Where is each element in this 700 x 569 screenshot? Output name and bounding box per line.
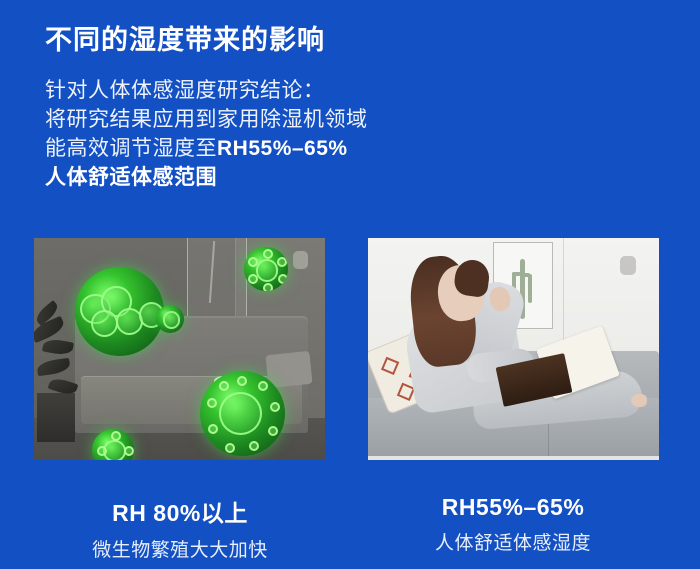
pillow-motif — [381, 356, 399, 374]
wall-thermostat-icon — [293, 251, 308, 269]
microbe-spike — [207, 398, 217, 408]
microbe-sphere — [75, 267, 164, 356]
woman-foot — [631, 394, 647, 407]
caption-title: RH 80%以上 — [30, 494, 330, 528]
microbe-spike — [263, 249, 273, 259]
microbe-spike — [270, 402, 280, 412]
caption-subtitle: 微生物繁殖大大加快 — [30, 535, 330, 562]
microbe-spike — [208, 424, 218, 434]
photo-panels — [0, 238, 700, 460]
microbe-spike — [277, 257, 287, 267]
microbe-sphere — [156, 305, 184, 333]
microbe-nucleus — [219, 392, 262, 435]
wall-thermostat-icon — [620, 256, 636, 275]
microbe-spike — [237, 376, 247, 386]
microbe-spike — [278, 274, 288, 284]
microbe-spike — [219, 381, 229, 391]
wall-art-frame — [187, 238, 247, 322]
caption-title: RH55%–65% — [363, 494, 663, 521]
photo-high-humidity — [34, 238, 325, 460]
microbe-spike — [249, 441, 259, 451]
plant-leaf — [36, 358, 71, 376]
body-copy-block: 针对人体体感湿度研究结论： 将研究结果应用到家用除湿机领域 能高效调节湿度至RH… — [45, 76, 368, 192]
caption-high-humidity: RH 80%以上 微生物繁殖大大加快 — [30, 494, 330, 562]
body-line-1: 针对人体体感湿度研究结论： — [45, 76, 368, 105]
caption-comfort-humidity: RH55%–65% 人体舒适体感湿度 — [363, 494, 663, 555]
microbe-spike — [97, 446, 107, 456]
humidity-infographic-poster: 不同的湿度带来的影响 针对人体体感湿度研究结论： 将研究结果应用到家用除湿机领域… — [0, 0, 700, 569]
microbe-nucleus — [163, 311, 180, 328]
plant-leaf — [42, 338, 74, 357]
microbe-sphere — [200, 371, 285, 456]
plant-pot — [37, 393, 75, 442]
microbe-nucleus — [91, 310, 118, 337]
photo-comfort-humidity — [368, 238, 659, 460]
microbe-spike — [248, 257, 258, 267]
body-line-3-normal: 能高效调节湿度至 — [45, 137, 217, 160]
wall-art-plant-icon — [209, 241, 215, 303]
microbe-spike — [248, 274, 258, 284]
page-title: 不同的湿度带来的影响 — [45, 18, 325, 57]
microbe-spike — [258, 381, 268, 391]
microbe-nucleus — [256, 259, 278, 281]
body-line-2: 将研究结果应用到家用除湿机领域 — [45, 105, 368, 134]
microbe-spike — [225, 443, 235, 453]
microbe-sphere — [244, 247, 288, 291]
body-line-3-highlight: RH55%–65% — [217, 137, 348, 160]
cactus-arm — [528, 274, 532, 303]
caption-subtitle: 人体舒适体感湿度 — [363, 528, 663, 555]
body-line-3: 能高效调节湿度至RH55%–65% — [45, 134, 368, 163]
microbe-spike — [263, 283, 273, 291]
dim-living-room-illustration — [34, 238, 325, 460]
cactus-arm — [520, 273, 529, 277]
microbe-spike — [268, 426, 278, 436]
microbe-spike — [124, 446, 134, 456]
bright-living-room-illustration — [368, 238, 659, 460]
body-line-4: 人体舒适体感范围 — [45, 163, 368, 192]
